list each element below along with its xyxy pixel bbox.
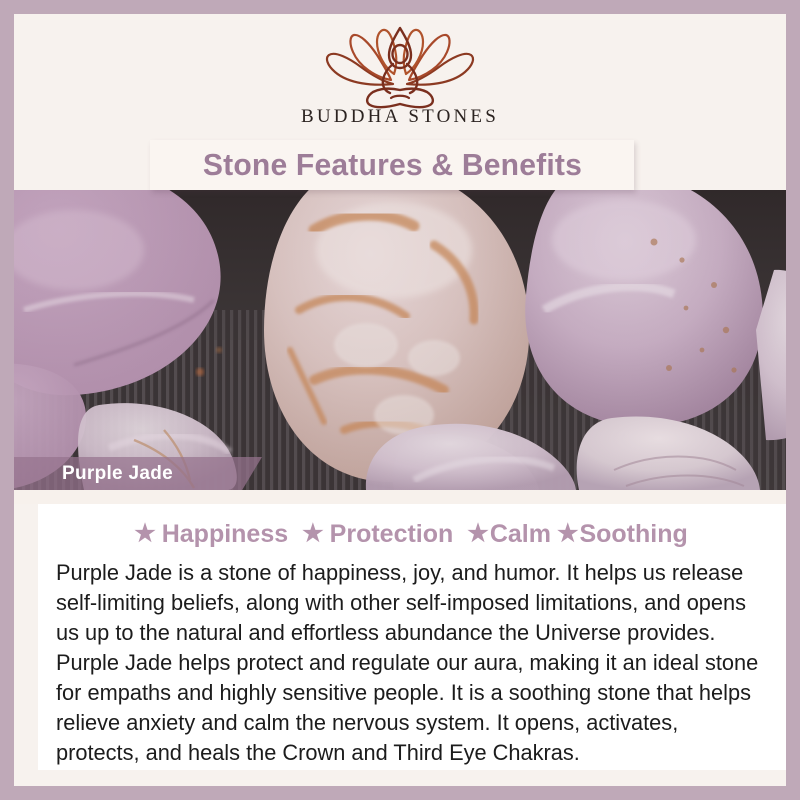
stone-name-label: Purple Jade [62,463,173,485]
star-icon: ★ [557,522,579,546]
stone-photo [14,190,786,490]
stone-name-band: Purple Jade [14,457,262,490]
benefit-label: Protection [330,520,454,549]
poster-card: BUDDHA STONES Stone Features & Benefits [14,14,786,786]
content-panel: ★ Happiness ★ Protection ★ Calm ★ Soothi… [38,504,786,770]
title-banner: Stone Features & Benefits [150,140,634,190]
star-icon: ★ [302,522,324,546]
star-icon: ★ [134,522,156,546]
poster-root: BUDDHA STONES Stone Features & Benefits [0,0,800,800]
benefit-item-protection: ★ Protection [302,520,453,549]
brand-header: BUDDHA STONES [14,14,786,146]
benefit-item-soothing: ★ Soothing [557,520,688,549]
purple-jade-stones-image [14,190,786,490]
benefits-row: ★ Happiness ★ Protection ★ Calm ★ Soothi… [50,514,772,554]
description-paragraph-1: Purple Jade is a stone of happiness, joy… [56,558,761,648]
brand-logo: BUDDHA STONES [275,22,525,128]
photo-bottom-strip [14,490,786,504]
benefit-item-calm: ★ Calm [467,520,551,549]
benefit-label: Soothing [579,520,687,549]
footer-space [14,770,786,786]
description-paragraph-2: Purple Jade helps protect and regulate o… [56,648,761,768]
lotus-meditation-icon [315,22,485,110]
benefit-label: Calm [490,520,551,549]
star-icon: ★ [467,522,489,546]
brand-name: BUDDHA STONES [275,106,525,128]
benefit-item-happiness: ★ Happiness [134,520,288,549]
page-title: Stone Features & Benefits [202,147,581,183]
description-block: Purple Jade is a stone of happiness, joy… [50,558,772,768]
benefit-label: Happiness [162,520,288,549]
